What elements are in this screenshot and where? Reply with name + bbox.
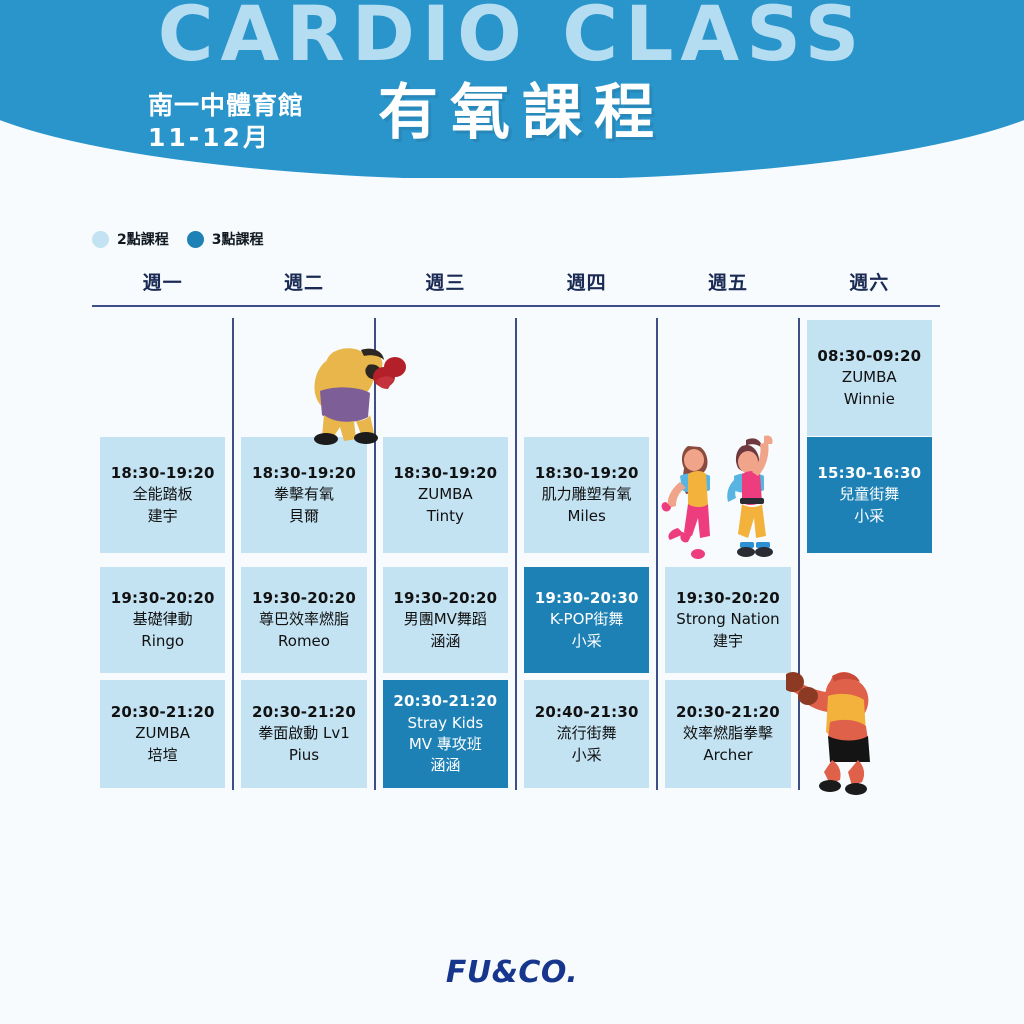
class-slot[interactable]: 18:30-19:20全能踏板建宇: [100, 437, 225, 553]
class-name: 拳面啟動 Lv1: [258, 723, 350, 744]
class-time: 18:30-19:20: [535, 463, 639, 484]
class-instructor: 培塇: [148, 745, 178, 766]
class-name: 男團MV舞蹈: [404, 609, 487, 630]
venue-and-period: 南一中體育館 11-12月: [148, 90, 304, 154]
class-time: 19:30-20:20: [111, 588, 215, 609]
class-time: 19:30-20:20: [676, 588, 780, 609]
class-name: ZUMBA: [418, 484, 473, 505]
day-header-monday: 週一: [92, 268, 233, 304]
schedule-column-4: 18:30-19:20肌力雕塑有氧Miles19:30-20:30K-POP街舞…: [516, 312, 657, 798]
day-header-saturday: 週六: [799, 268, 940, 304]
class-name: 兒童街舞: [839, 484, 899, 505]
class-slot[interactable]: 20:30-21:20效率燃脂拳擊Archer: [665, 680, 790, 788]
class-time: 15:30-16:30: [817, 463, 921, 484]
class-slot[interactable]: 15:30-16:30兒童街舞小采: [807, 437, 932, 553]
class-name: K-POP街舞: [550, 609, 624, 630]
class-name: MV 專攻班: [409, 734, 482, 755]
class-instructor: 涵涵: [430, 755, 460, 776]
day-header-tuesday: 週二: [233, 268, 374, 304]
legend-label-dark: 3點課程: [212, 229, 264, 249]
class-time: 20:30-21:20: [252, 702, 356, 723]
poster-title-chinese: 有氧課程: [378, 82, 666, 145]
class-name: 基礎律動: [133, 609, 193, 630]
legend-label-light: 2點課程: [117, 229, 169, 249]
legend-item-dark: 3點課程: [187, 229, 264, 249]
legend-dot-dark-icon: [187, 231, 204, 248]
boxer-illustration-saturday: [786, 662, 901, 797]
legend-dot-light-icon: [92, 231, 109, 248]
class-time: 19:30-20:30: [535, 588, 639, 609]
class-slot[interactable]: 20:40-21:30流行街舞小采: [524, 680, 649, 788]
class-instructor: 小采: [572, 631, 602, 652]
class-time: 19:30-20:20: [393, 588, 497, 609]
class-name: 肌力雕塑有氧: [542, 484, 632, 505]
class-name: Stray Kids: [407, 713, 483, 734]
cardio-class-poster: CARDIO CLASS 南一中體育館 11-12月 有氧課程 2點課程 3點課…: [0, 0, 1024, 1024]
class-slot[interactable]: 08:30-09:20ZUMBAWinnie: [807, 320, 932, 436]
class-instructor: Romeo: [278, 631, 330, 652]
class-time: 19:30-20:20: [252, 588, 356, 609]
day-header-row: 週一 週二 週三 週四 週五 週六: [92, 268, 940, 304]
class-instructor: 建宇: [148, 506, 178, 527]
class-time: 18:30-19:20: [111, 463, 215, 484]
class-name: 效率燃脂拳擊: [683, 723, 773, 744]
class-slot[interactable]: 18:30-19:20ZUMBATinty: [383, 437, 508, 553]
class-slot[interactable]: 18:30-19:20拳擊有氧貝爾: [241, 437, 366, 553]
class-slot[interactable]: 20:30-21:20Stray KidsMV 專攻班涵涵: [383, 680, 508, 788]
class-time: 20:40-21:30: [535, 702, 639, 723]
class-time: 20:30-21:20: [393, 691, 497, 712]
schedule-column-1: 18:30-19:20全能踏板建宇19:30-20:20基礎律動Ringo20:…: [92, 312, 233, 798]
class-name: 流行街舞: [557, 723, 617, 744]
class-instructor: Ringo: [141, 631, 184, 652]
class-slot[interactable]: 18:30-19:20肌力雕塑有氧Miles: [524, 437, 649, 553]
class-name: 尊巴效率燃脂: [259, 609, 349, 630]
class-instructor: Winnie: [844, 389, 895, 410]
brand-footer: FU&CO.: [0, 955, 1024, 990]
class-slot[interactable]: 19:30-20:20男團MV舞蹈涵涵: [383, 567, 508, 673]
day-header-friday: 週五: [657, 268, 798, 304]
day-header-thursday: 週四: [516, 268, 657, 304]
class-instructor: Miles: [567, 506, 605, 527]
class-instructor: 小采: [854, 506, 884, 527]
class-slot[interactable]: 19:30-20:30K-POP街舞小采: [524, 567, 649, 673]
day-header-wednesday: 週三: [375, 268, 516, 304]
class-name: Strong Nation: [676, 609, 779, 630]
class-name: ZUMBA: [135, 723, 190, 744]
period-label: 11-12月: [148, 123, 271, 152]
class-instructor: Pius: [289, 745, 319, 766]
class-slot[interactable]: 19:30-20:20基礎律動Ringo: [100, 567, 225, 673]
poster-title-english: CARDIO CLASS: [0, 0, 1024, 74]
class-instructor: 涵涵: [430, 631, 460, 652]
boxer-illustration-tuesday: [298, 335, 408, 447]
class-name: 拳擊有氧: [274, 484, 334, 505]
class-slot[interactable]: 20:30-21:20ZUMBA培塇: [100, 680, 225, 788]
class-time: 20:30-21:20: [676, 702, 780, 723]
class-slot[interactable]: 19:30-20:20尊巴效率燃脂Romeo: [241, 567, 366, 673]
class-instructor: 小采: [572, 745, 602, 766]
class-instructor: 建宇: [713, 631, 743, 652]
class-slot[interactable]: 19:30-20:20Strong Nation建宇: [665, 567, 790, 673]
class-time: 18:30-19:20: [252, 463, 356, 484]
class-instructor: Archer: [703, 745, 752, 766]
dancers-illustration-friday: [658, 432, 786, 562]
legend-item-light: 2點課程: [92, 229, 169, 249]
venue-label: 南一中體育館: [148, 91, 304, 120]
class-instructor: Tinty: [427, 506, 464, 527]
class-time: 18:30-19:20: [393, 463, 497, 484]
class-name: 全能踏板: [133, 484, 193, 505]
class-name: ZUMBA: [842, 367, 897, 388]
class-time: 08:30-09:20: [817, 346, 921, 367]
header-banner: CARDIO CLASS 南一中體育館 11-12月 有氧課程: [0, 0, 1024, 178]
header-divider-rule: [92, 305, 940, 307]
class-slot[interactable]: 20:30-21:20拳面啟動 Lv1Pius: [241, 680, 366, 788]
legend: 2點課程 3點課程: [92, 229, 264, 249]
class-instructor: 貝爾: [289, 506, 319, 527]
class-time: 20:30-21:20: [111, 702, 215, 723]
